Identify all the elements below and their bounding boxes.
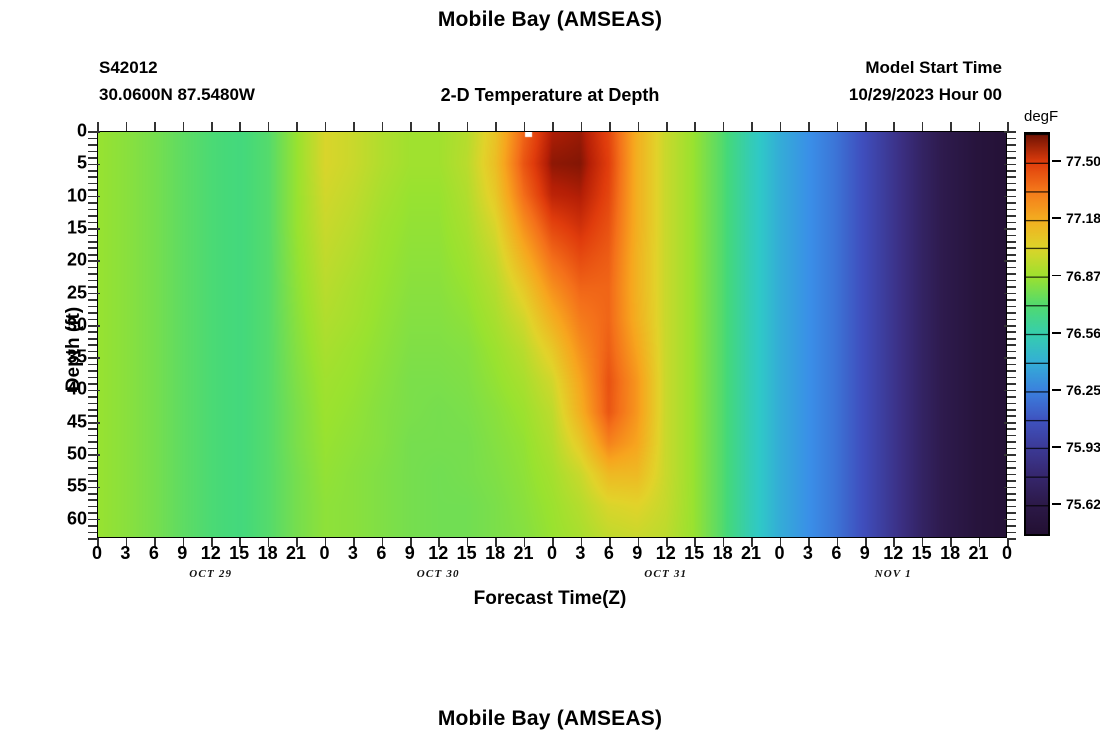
y-axis-tick (1007, 331, 1016, 333)
y-axis-tick (88, 487, 100, 489)
y-axis-tick (1004, 228, 1016, 230)
colorbar-tick-label: 75.625 (1066, 496, 1100, 512)
colorbar-tick (1052, 275, 1061, 277)
y-axis-tick (88, 247, 97, 249)
y-axis-tick (1007, 403, 1016, 405)
y-axis-tick (88, 512, 97, 514)
y-axis-tick (88, 519, 100, 521)
x-axis-tick (609, 122, 611, 131)
x-axis-tick (694, 122, 696, 131)
y-axis-tick (1007, 512, 1016, 514)
x-axis-tick (183, 122, 185, 131)
y-axis-tick (1007, 209, 1016, 211)
y-axis-tick (88, 403, 97, 405)
y-axis-tick (1007, 215, 1016, 217)
y-axis-tick (1007, 138, 1016, 140)
y-axis-tick (1007, 480, 1016, 482)
y-axis-tick (88, 170, 97, 172)
y-axis-tick (1004, 196, 1016, 198)
x-axis-tick (950, 122, 952, 131)
colorbar-tick-label: 76.562 (1066, 325, 1100, 341)
y-axis-tick-label: 40 (67, 379, 87, 400)
colorbar-unit-label: degF (1024, 108, 1058, 125)
y-axis-tick (1007, 241, 1016, 243)
y-axis-tick (1007, 383, 1016, 385)
x-axis-tick-label: 3 (575, 543, 585, 564)
y-axis-tick (88, 215, 97, 217)
colorbar-tick-label: 76.250 (1066, 382, 1100, 398)
y-axis-tick (1007, 364, 1016, 366)
x-axis-tick (780, 122, 782, 131)
y-axis-tick (1007, 286, 1016, 288)
y-axis-tick (1007, 448, 1016, 450)
x-axis-tick (922, 122, 924, 131)
x-axis-tick (552, 122, 554, 131)
y-axis-tick (88, 144, 97, 146)
colorbar-tick (1052, 446, 1061, 448)
y-axis-tick (88, 396, 97, 398)
y-axis-tick (88, 235, 97, 237)
x-axis-tick (239, 122, 241, 131)
x-axis-tick (325, 122, 327, 131)
y-axis-tick (88, 364, 97, 366)
x-axis-tick (1007, 122, 1009, 131)
y-axis-tick-label: 25 (67, 282, 87, 303)
y-axis-tick (88, 338, 97, 340)
y-axis-tick (1007, 506, 1016, 508)
y-axis-tick (1007, 267, 1016, 269)
y-axis-tick (88, 222, 97, 224)
y-axis-tick (88, 370, 97, 372)
x-axis-tick (979, 122, 981, 131)
x-axis-tick-label: 12 (656, 543, 676, 564)
y-axis-tick-label: 55 (67, 476, 87, 497)
x-axis-tick-label: 9 (632, 543, 642, 564)
y-axis-tick (88, 357, 100, 359)
x-axis-tick (751, 122, 753, 131)
x-axis-tick-label: 12 (883, 543, 903, 564)
colorbar-canvas (1026, 134, 1048, 534)
x-axis-tick-label: 0 (1002, 543, 1012, 564)
y-axis-tick (88, 138, 97, 140)
y-axis-tick-label: 35 (67, 347, 87, 368)
y-axis-tick (88, 474, 97, 476)
y-axis-tick (1004, 519, 1016, 521)
x-axis-tick-label: 0 (319, 543, 329, 564)
x-axis-tick-label: 6 (831, 543, 841, 564)
y-axis-tick (88, 480, 97, 482)
colorbar-tick (1052, 503, 1061, 505)
y-axis-tick (88, 331, 97, 333)
x-axis-tick (353, 122, 355, 131)
x-axis-tick-label: 21 (286, 543, 306, 564)
y-axis-tick (1007, 157, 1016, 159)
y-axis-tick (1007, 441, 1016, 443)
y-axis-tick (88, 183, 97, 185)
x-axis-tick (268, 122, 270, 131)
x-axis-tick (865, 122, 867, 131)
y-axis-tick (1007, 312, 1016, 314)
x-axis-tick-label: 6 (149, 543, 159, 564)
temperature-heatmap (98, 132, 1006, 537)
colorbar-gradient (1024, 132, 1050, 536)
x-axis-tick-label: 15 (457, 543, 477, 564)
x-axis-tick (296, 122, 298, 131)
y-axis-tick (1004, 454, 1016, 456)
y-axis-tick (88, 390, 100, 392)
x-axis-day-label: NOV 1 (875, 568, 912, 580)
x-axis-tick-label: 15 (912, 543, 932, 564)
x-axis-tick-label: 18 (713, 543, 733, 564)
model-start-time-value: 10/29/2023 Hour 00 (849, 85, 1002, 105)
x-axis-tick (837, 122, 839, 131)
y-axis-tick (88, 461, 97, 463)
y-axis-tick (1004, 293, 1016, 295)
y-axis-tick (88, 209, 97, 211)
x-axis-tick-label: 3 (803, 543, 813, 564)
y-axis-tick (1007, 144, 1016, 146)
y-axis-tick (88, 306, 97, 308)
y-axis-tick-label: 20 (67, 250, 87, 271)
x-axis-tick-label: 18 (258, 543, 278, 564)
y-axis-tick (1004, 422, 1016, 424)
x-axis-tick-label: 21 (741, 543, 761, 564)
x-axis-tick (495, 122, 497, 131)
y-axis-tick (88, 189, 97, 191)
x-axis-tick (211, 122, 213, 131)
y-axis-tick (88, 441, 97, 443)
x-axis-tick-label: 0 (92, 543, 102, 564)
heatmap-plot-area (97, 131, 1007, 538)
x-axis-day-label: OCT 30 (417, 568, 460, 580)
y-axis-tick (88, 267, 97, 269)
y-axis-tick (1007, 396, 1016, 398)
y-axis-tick (1007, 319, 1016, 321)
x-axis-tick (438, 122, 440, 131)
x-axis-day-label: OCT 29 (189, 568, 232, 580)
y-axis-tick (1007, 235, 1016, 237)
y-axis-tick (88, 157, 97, 159)
colorbar-tick-label: 77.500 (1066, 153, 1100, 169)
colorbar-tick (1052, 389, 1061, 391)
y-axis-tick (1007, 435, 1016, 437)
y-axis-tick (88, 435, 97, 437)
x-axis-tick (467, 122, 469, 131)
y-axis-tick (88, 151, 97, 153)
y-axis-tick (1007, 351, 1016, 353)
y-axis-tick (1007, 377, 1016, 379)
y-axis-tick (1007, 151, 1016, 153)
colorbar-tick-label: 75.938 (1066, 439, 1100, 455)
y-axis-tick (88, 409, 97, 411)
y-axis-tick (1007, 280, 1016, 282)
y-axis-tick (88, 383, 97, 385)
y-axis-tick (88, 280, 97, 282)
y-axis-tick-label: 50 (67, 444, 87, 465)
x-axis-tick (126, 122, 128, 131)
y-axis-tick-label: 60 (67, 508, 87, 529)
y-axis-tick (1007, 183, 1016, 185)
x-axis-tick (666, 122, 668, 131)
y-axis-tick (1007, 532, 1016, 534)
x-axis-tick (382, 122, 384, 131)
x-axis-tick-label: 15 (229, 543, 249, 564)
y-axis-tick (1007, 306, 1016, 308)
colorbar-tick (1052, 217, 1061, 219)
x-axis-tick-label: 3 (120, 543, 130, 564)
y-axis-tick (88, 312, 97, 314)
y-axis-tick (88, 493, 97, 495)
y-axis-tick (88, 377, 97, 379)
y-axis-tick (88, 351, 97, 353)
y-axis-tick (1007, 474, 1016, 476)
x-axis-tick (723, 122, 725, 131)
y-axis-tick (1004, 131, 1016, 133)
y-axis-tick (1004, 390, 1016, 392)
y-axis-tick (1007, 222, 1016, 224)
x-axis-tick (154, 122, 156, 131)
y-axis-tick (1004, 357, 1016, 359)
y-axis-tick (1007, 493, 1016, 495)
y-axis-tick (88, 241, 97, 243)
y-axis-tick (1007, 467, 1016, 469)
x-axis-tick (808, 122, 810, 131)
y-axis-tick (1004, 164, 1016, 166)
y-axis-tick (1004, 325, 1016, 327)
y-axis-tick (88, 273, 97, 275)
y-axis-tick (1007, 247, 1016, 249)
y-axis-tick (88, 467, 97, 469)
y-axis-tick (1007, 538, 1016, 540)
colorbar-tick-label: 77.188 (1066, 210, 1100, 226)
x-axis-tick (524, 122, 526, 131)
y-axis-tick (88, 319, 97, 321)
y-axis-tick (1007, 461, 1016, 463)
x-axis-tick-label: 12 (428, 543, 448, 564)
y-axis-tick (1007, 176, 1016, 178)
y-axis-tick (88, 254, 97, 256)
y-axis-tick (1007, 525, 1016, 527)
colorbar-tick-label: 76.875 (1066, 268, 1100, 284)
y-axis-tick (1007, 415, 1016, 417)
model-start-time-label: Model Start Time (865, 58, 1002, 78)
page-title-bottom: Mobile Bay (AMSEAS) (0, 707, 1100, 731)
y-axis-tick-label: 5 (77, 153, 87, 174)
y-axis-tick-label: 0 (77, 121, 87, 142)
y-axis-tick-label: 15 (67, 217, 87, 238)
x-axis-tick (893, 122, 895, 131)
y-axis-tick (88, 448, 97, 450)
y-axis-tick (1007, 170, 1016, 172)
x-axis-tick-label: 0 (547, 543, 557, 564)
y-axis-tick (88, 532, 97, 534)
y-axis-tick (88, 176, 97, 178)
y-axis-tick (1004, 487, 1016, 489)
y-axis-tick (88, 499, 97, 501)
page-title-top: Mobile Bay (AMSEAS) (0, 8, 1100, 32)
x-axis-tick-label: 3 (348, 543, 358, 564)
y-axis-tick (88, 299, 97, 301)
x-axis-tick-label: 18 (485, 543, 505, 564)
y-axis-tick (88, 538, 97, 540)
x-axis-tick-label: 9 (860, 543, 870, 564)
y-axis-tick (88, 415, 97, 417)
y-axis-tick (88, 525, 97, 527)
x-axis-tick-label: 18 (940, 543, 960, 564)
y-axis-tick (88, 260, 100, 262)
y-axis-tick (88, 286, 97, 288)
y-axis-tick (1007, 189, 1016, 191)
x-axis-tick-label: 0 (774, 543, 784, 564)
x-axis-tick-label: 21 (514, 543, 534, 564)
y-axis-tick-label: 45 (67, 411, 87, 432)
x-axis-tick-label: 6 (376, 543, 386, 564)
y-axis-tick (1007, 370, 1016, 372)
x-axis-tick-label: 21 (969, 543, 989, 564)
y-axis-tick (1007, 344, 1016, 346)
y-axis-tick (1007, 338, 1016, 340)
x-axis-title: Forecast Time(Z) (0, 588, 1100, 610)
x-axis-tick-label: 15 (684, 543, 704, 564)
y-axis-tick (88, 131, 100, 133)
x-axis-tick (410, 122, 412, 131)
y-axis-tick (88, 506, 97, 508)
y-axis-tick (1007, 273, 1016, 275)
x-axis-tick (97, 122, 99, 131)
y-axis-tick (88, 325, 100, 327)
x-axis-tick-label: 6 (604, 543, 614, 564)
y-axis-tick (88, 196, 100, 198)
x-axis-tick-label: 9 (405, 543, 415, 564)
y-axis-tick (1004, 260, 1016, 262)
y-axis-tick (88, 164, 100, 166)
y-axis-tick (88, 428, 97, 430)
station-id: S42012 (99, 58, 158, 78)
x-axis-tick (638, 122, 640, 131)
y-axis-tick (88, 228, 100, 230)
colorbar-tick (1052, 332, 1061, 334)
y-axis-tick (88, 422, 100, 424)
y-axis-tick (88, 293, 100, 295)
y-axis-tick (1007, 254, 1016, 256)
x-axis-tick (581, 122, 583, 131)
y-axis-tick (88, 202, 97, 204)
y-axis-tick-label: 10 (67, 185, 87, 206)
y-axis-tick (1007, 299, 1016, 301)
x-axis-day-label: OCT 31 (644, 568, 687, 580)
y-axis-tick (1007, 202, 1016, 204)
y-axis-tick (88, 454, 100, 456)
y-axis-tick (1007, 409, 1016, 411)
y-axis-tick (1007, 499, 1016, 501)
colorbar-tick (1052, 160, 1061, 162)
x-axis-tick-label: 12 (201, 543, 221, 564)
y-axis-tick (1007, 428, 1016, 430)
x-axis-tick-label: 9 (177, 543, 187, 564)
y-axis-tick (88, 344, 97, 346)
y-axis-tick-label: 30 (67, 314, 87, 335)
